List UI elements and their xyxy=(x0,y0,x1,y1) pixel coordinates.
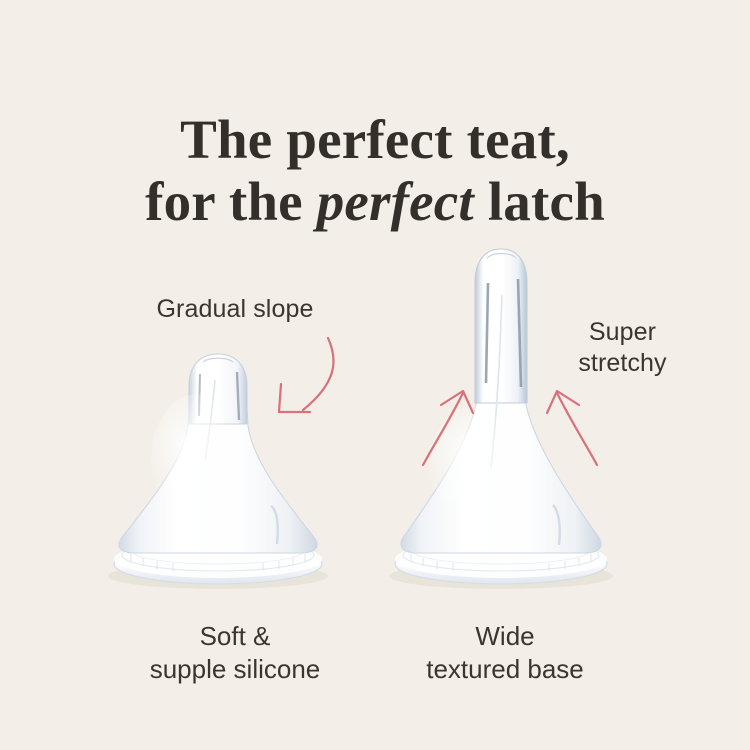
arrow-gradual-slope xyxy=(255,332,350,432)
headline-emphasis: perfect xyxy=(317,171,474,232)
arrow-stretch-right xyxy=(533,385,605,470)
teat-highlight xyxy=(151,394,243,526)
headline-line-2: for the perfect latch xyxy=(0,171,750,233)
infographic-canvas: The perfect teat, for the perfect latch xyxy=(0,0,750,750)
headline-line-2-before: for the xyxy=(145,171,317,232)
caption-wide-textured-base: Wide textured base xyxy=(345,620,665,686)
annotation-super-stretchy: Super stretchy xyxy=(540,317,705,379)
headline-line-2-after: latch xyxy=(474,171,605,232)
arrow-stretch-left xyxy=(415,385,485,470)
headline-line-1: The perfect teat, xyxy=(180,109,570,170)
annotation-gradual-slope: Gradual slope xyxy=(60,294,410,325)
page-title: The perfect teat, for the perfect latch xyxy=(0,109,750,233)
